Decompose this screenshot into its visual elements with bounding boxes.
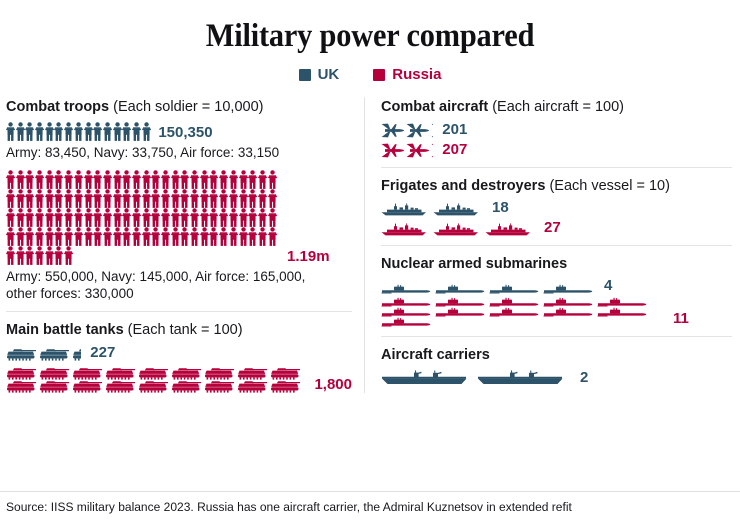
left-column: Combat troops (Each soldier = 10,000) 15… — [6, 97, 364, 393]
section-heading-nuclear-submarines: Nuclear armed submarines — [381, 256, 732, 273]
legend-item-uk: UK — [299, 66, 340, 83]
soldier-icon — [45, 170, 54, 189]
carriers-value-uk: 2 — [580, 370, 588, 386]
soldier-icon — [122, 122, 131, 141]
frigate-icon-group-uk — [381, 203, 485, 216]
right-column: Combat aircraft (Each aircraft = 100) 20… — [364, 97, 732, 393]
soldier-icon — [229, 208, 238, 227]
soldier-icon — [229, 170, 238, 189]
tank-icon — [72, 380, 103, 393]
section-title: Aircraft carriers — [381, 347, 490, 363]
soldier-icon — [171, 189, 180, 208]
tanks-row-russia: 1,800 — [6, 367, 352, 393]
soldier-icon — [229, 227, 238, 246]
submarine-icon — [543, 284, 593, 294]
soldier-icon — [268, 170, 277, 189]
carrier-icon — [381, 370, 469, 386]
section-unit: (Each vessel = 10) — [549, 178, 670, 194]
soldier-icon — [35, 170, 44, 189]
soldier-icon — [248, 189, 257, 208]
soldier-icon — [35, 208, 44, 227]
aircraft-value-russia: 207 — [442, 142, 467, 158]
carriers-row-uk: 2 — [381, 370, 732, 386]
submarine-icon — [597, 297, 647, 307]
submarine-icon — [489, 297, 539, 307]
soldier-icon — [64, 208, 73, 227]
submarine-icon — [489, 284, 539, 294]
soldier-icon — [171, 227, 180, 246]
soldier-icon — [248, 170, 257, 189]
soldier-icon — [113, 170, 122, 189]
tank-icon — [39, 380, 70, 393]
section-frigates-destroyers: Frigates and destroyers (Each vessel = 1… — [381, 167, 732, 236]
soldier-icon — [103, 170, 112, 189]
soldier-icon — [219, 189, 228, 208]
soldier-icon — [54, 208, 63, 227]
soldier-icon — [6, 227, 15, 246]
legend-label-russia: Russia — [392, 66, 441, 83]
soldier-icon — [84, 227, 93, 246]
legend-swatch-uk — [299, 69, 311, 81]
frigates-row-russia: 27 — [381, 220, 732, 236]
jet-icon — [381, 143, 404, 158]
submarine-icon — [435, 307, 485, 317]
troops-block-russia: 1.19m — [6, 170, 352, 265]
soldier-icon — [74, 227, 83, 246]
soldier-icon — [16, 170, 25, 189]
soldier-icon — [35, 122, 44, 141]
soldier-icon — [103, 122, 112, 141]
frigates-row-uk: 18 — [381, 200, 732, 216]
section-unit: (Each aircraft = 100) — [492, 99, 624, 115]
jet-icon — [406, 123, 429, 138]
soldier-icon-group-uk — [6, 122, 151, 141]
legend: UK Russia — [0, 66, 740, 83]
soldier-icon — [229, 189, 238, 208]
section-heading-frigates-destroyers: Frigates and destroyers (Each vessel = 1… — [381, 178, 732, 195]
soldier-icon — [190, 208, 199, 227]
soldier-icon — [93, 189, 102, 208]
infographic-root: Military power compared UK Russia Combat… — [0, 0, 740, 521]
page-title: Military power compared — [30, 0, 711, 54]
section-unit: (Each soldier = 10,000) — [113, 99, 263, 115]
tank-icon-group-uk — [6, 348, 83, 361]
footer: Source: IISS military balance 2023. Russ… — [0, 491, 740, 521]
section-heading-combat-aircraft: Combat aircraft (Each aircraft = 100) — [381, 99, 732, 116]
soldier-icon — [64, 122, 73, 141]
soldier-icon — [122, 208, 131, 227]
soldier-icon — [200, 227, 209, 246]
soldier-icon — [219, 170, 228, 189]
submarine-icon — [435, 284, 485, 294]
soldier-icon — [16, 122, 25, 141]
soldier-icon — [84, 208, 93, 227]
aircraft-row-uk: 201 — [381, 122, 732, 138]
troops-value-uk: 150,350 — [158, 125, 212, 141]
soldier-icon — [161, 208, 170, 227]
soldier-icon — [258, 170, 267, 189]
carrier-icon-group-uk — [381, 370, 573, 386]
section-heading-combat-troops: Combat troops (Each soldier = 10,000) — [6, 99, 352, 116]
soldier-icon — [84, 170, 93, 189]
frigates-value-russia: 27 — [544, 220, 561, 236]
soldier-icon — [74, 170, 83, 189]
soldier-icon — [190, 189, 199, 208]
soldier-icon — [93, 170, 102, 189]
submarine-icon-group-russia — [381, 297, 666, 327]
tank-icon — [72, 367, 103, 380]
soldier-icon — [219, 227, 228, 246]
soldier-icon — [132, 208, 141, 227]
content-columns: Combat troops (Each soldier = 10,000) 15… — [0, 97, 740, 393]
legend-item-russia: Russia — [373, 66, 441, 83]
soldier-icon — [248, 208, 257, 227]
section-title: Combat aircraft — [381, 99, 488, 115]
soldier-icon-group-russia — [6, 170, 280, 265]
tank-icon — [270, 367, 301, 380]
soldier-icon — [25, 227, 34, 246]
soldier-icon — [171, 170, 180, 189]
soldier-icon — [113, 208, 122, 227]
troops-value-russia: 1.19m — [287, 249, 330, 265]
soldier-icon — [268, 227, 277, 246]
soldier-icon — [45, 246, 54, 265]
section-unit: (Each tank = 100) — [128, 322, 243, 338]
submarine-icon-group-uk — [381, 284, 597, 294]
soldier-icon — [25, 246, 34, 265]
soldier-icon — [103, 189, 112, 208]
soldier-icon — [151, 227, 160, 246]
tank-icon — [237, 380, 268, 393]
tank-icon — [204, 380, 235, 393]
soldier-icon — [45, 227, 54, 246]
soldier-icon — [74, 189, 83, 208]
tank-icon-group-russia — [6, 367, 307, 393]
soldier-icon — [84, 189, 93, 208]
soldier-icon — [54, 246, 63, 265]
tank-icon — [171, 367, 202, 380]
tank-icon — [6, 380, 37, 393]
soldier-icon — [54, 122, 63, 141]
submarines-value-uk: 4 — [604, 278, 612, 294]
section-title: Frigates and destroyers — [381, 178, 545, 194]
soldier-icon — [45, 189, 54, 208]
tank-icon — [237, 367, 268, 380]
soldier-icon — [54, 227, 63, 246]
jet-icon-group-russia — [381, 143, 435, 158]
soldier-icon — [74, 208, 83, 227]
submarine-icon — [381, 284, 431, 294]
carrier-icon — [477, 370, 565, 386]
submarine-icon — [543, 307, 593, 317]
soldier-icon — [16, 246, 25, 265]
soldier-icon — [25, 122, 34, 141]
soldier-icon — [25, 208, 34, 227]
soldier-icon — [200, 189, 209, 208]
frigate-icon — [381, 203, 428, 216]
jet-icon — [431, 123, 433, 138]
soldier-icon — [64, 189, 73, 208]
section-nuclear-submarines: Nuclear armed submarines 4 11 — [381, 245, 732, 327]
jet-icon — [406, 143, 429, 158]
soldier-icon — [6, 246, 15, 265]
soldier-icon — [239, 208, 248, 227]
section-main-battle-tanks: Main battle tanks (Each tank = 100) 227 … — [6, 311, 352, 392]
soldier-icon — [64, 227, 73, 246]
soldier-icon — [142, 189, 151, 208]
source-note: Source: IISS military balance 2023. Russ… — [6, 500, 712, 515]
frigates-value-uk: 18 — [492, 200, 509, 216]
tanks-value-russia: 1,800 — [314, 377, 352, 393]
soldier-icon — [180, 189, 189, 208]
soldier-icon — [142, 208, 151, 227]
tank-icon — [270, 380, 301, 393]
soldier-icon — [209, 170, 218, 189]
frigate-icon-group-russia — [381, 223, 537, 236]
section-title: Nuclear armed submarines — [381, 256, 567, 272]
tank-icon — [138, 367, 169, 380]
submarines-row-uk: 4 — [381, 278, 732, 294]
soldier-icon — [16, 227, 25, 246]
soldier-icon — [74, 122, 83, 141]
soldier-icon — [64, 246, 73, 265]
tanks-block-russia: 1,800 — [6, 367, 352, 393]
soldier-icon — [64, 170, 73, 189]
jet-icon — [381, 123, 404, 138]
jet-icon-group-uk — [381, 123, 435, 138]
soldier-icon — [151, 170, 160, 189]
soldier-icon — [93, 227, 102, 246]
aircraft-row-russia: 207 — [381, 142, 732, 158]
legend-label-uk: UK — [318, 66, 340, 83]
soldier-icon — [45, 208, 54, 227]
soldier-icon — [268, 189, 277, 208]
soldier-icon — [6, 170, 15, 189]
section-combat-troops: Combat troops (Each soldier = 10,000) 15… — [6, 97, 352, 302]
soldier-icon — [122, 170, 131, 189]
soldier-icon — [180, 208, 189, 227]
soldier-icon — [122, 227, 131, 246]
soldier-icon — [6, 122, 15, 141]
tanks-row-uk: 227 — [6, 345, 352, 361]
soldier-icon — [122, 189, 131, 208]
soldier-icon — [239, 227, 248, 246]
troops-row-uk: 150,350 — [6, 122, 352, 141]
frigate-icon — [433, 223, 480, 236]
soldier-icon — [200, 208, 209, 227]
soldier-icon — [258, 189, 267, 208]
soldier-icon — [25, 189, 34, 208]
soldier-icon — [54, 170, 63, 189]
soldier-icon — [151, 208, 160, 227]
soldier-icon — [35, 189, 44, 208]
soldier-icon — [142, 170, 151, 189]
soldier-icon — [209, 208, 218, 227]
soldier-icon — [239, 170, 248, 189]
soldier-icon — [209, 227, 218, 246]
tank-icon — [171, 380, 202, 393]
submarine-icon — [597, 307, 647, 317]
soldier-icon — [132, 170, 141, 189]
soldier-icon — [200, 170, 209, 189]
soldier-icon — [103, 227, 112, 246]
soldier-icon — [113, 122, 122, 141]
section-aircraft-carriers: Aircraft carriers 2 — [381, 336, 732, 385]
soldier-icon — [93, 208, 102, 227]
section-title: Combat troops — [6, 99, 109, 115]
tank-icon — [72, 348, 81, 361]
soldier-icon — [132, 189, 141, 208]
soldier-icon — [268, 208, 277, 227]
soldier-icon — [161, 189, 170, 208]
soldier-icon — [93, 122, 102, 141]
tank-icon — [105, 380, 136, 393]
submarine-icon — [381, 307, 431, 317]
tank-icon — [6, 348, 37, 361]
soldier-icon — [161, 227, 170, 246]
frigate-icon — [381, 223, 428, 236]
aircraft-value-uk: 201 — [442, 122, 467, 138]
legend-swatch-russia — [373, 69, 385, 81]
soldier-icon — [54, 189, 63, 208]
section-heading-aircraft-carriers: Aircraft carriers — [381, 347, 732, 364]
submarine-icon — [381, 317, 431, 327]
soldier-icon — [180, 227, 189, 246]
soldier-icon — [6, 208, 15, 227]
soldier-icon — [171, 208, 180, 227]
soldier-icon — [258, 227, 267, 246]
tank-icon — [39, 367, 70, 380]
soldier-icon — [16, 208, 25, 227]
soldier-icon — [161, 170, 170, 189]
troops-breakdown-uk: Army: 83,450, Navy: 33,750, Air force: 3… — [6, 144, 352, 161]
soldier-icon — [209, 189, 218, 208]
soldier-icon — [113, 189, 122, 208]
soldier-icon — [219, 208, 228, 227]
troops-row-russia: 1.19m — [6, 170, 352, 265]
submarines-value-russia: 11 — [673, 311, 689, 327]
soldier-icon — [248, 227, 257, 246]
soldier-icon — [35, 246, 44, 265]
submarines-row-russia: 11 — [381, 297, 732, 327]
tanks-value-uk: 227 — [90, 345, 115, 361]
soldier-icon — [142, 122, 151, 141]
soldier-icon — [84, 122, 93, 141]
soldier-icon — [6, 189, 15, 208]
soldier-icon — [113, 227, 122, 246]
soldier-icon — [103, 208, 112, 227]
soldier-icon — [239, 189, 248, 208]
soldier-icon — [190, 170, 199, 189]
tank-icon — [39, 348, 70, 361]
section-title: Main battle tanks — [6, 322, 124, 338]
soldier-icon — [35, 227, 44, 246]
soldier-icon — [132, 227, 141, 246]
soldier-icon — [25, 170, 34, 189]
soldier-icon — [45, 122, 54, 141]
tank-icon — [6, 367, 37, 380]
tank-icon — [105, 367, 136, 380]
soldier-icon — [180, 170, 189, 189]
jet-icon — [431, 143, 433, 158]
frigate-icon — [433, 203, 480, 216]
submarine-icon — [489, 307, 539, 317]
tank-icon — [204, 367, 235, 380]
soldier-icon — [142, 227, 151, 246]
submarine-icon — [435, 297, 485, 307]
soldier-icon — [16, 189, 25, 208]
section-combat-aircraft: Combat aircraft (Each aircraft = 100) 20… — [381, 97, 732, 157]
soldier-icon — [258, 208, 267, 227]
tank-icon — [138, 380, 169, 393]
soldier-icon — [151, 189, 160, 208]
frigate-icon — [485, 223, 532, 236]
section-heading-main-battle-tanks: Main battle tanks (Each tank = 100) — [6, 322, 352, 339]
troops-breakdown-russia: Army: 550,000, Navy: 145,000, Air force:… — [6, 268, 336, 303]
soldier-icon — [132, 122, 141, 141]
soldier-icon — [190, 227, 199, 246]
submarine-icon — [381, 297, 431, 307]
submarine-icon — [543, 297, 593, 307]
